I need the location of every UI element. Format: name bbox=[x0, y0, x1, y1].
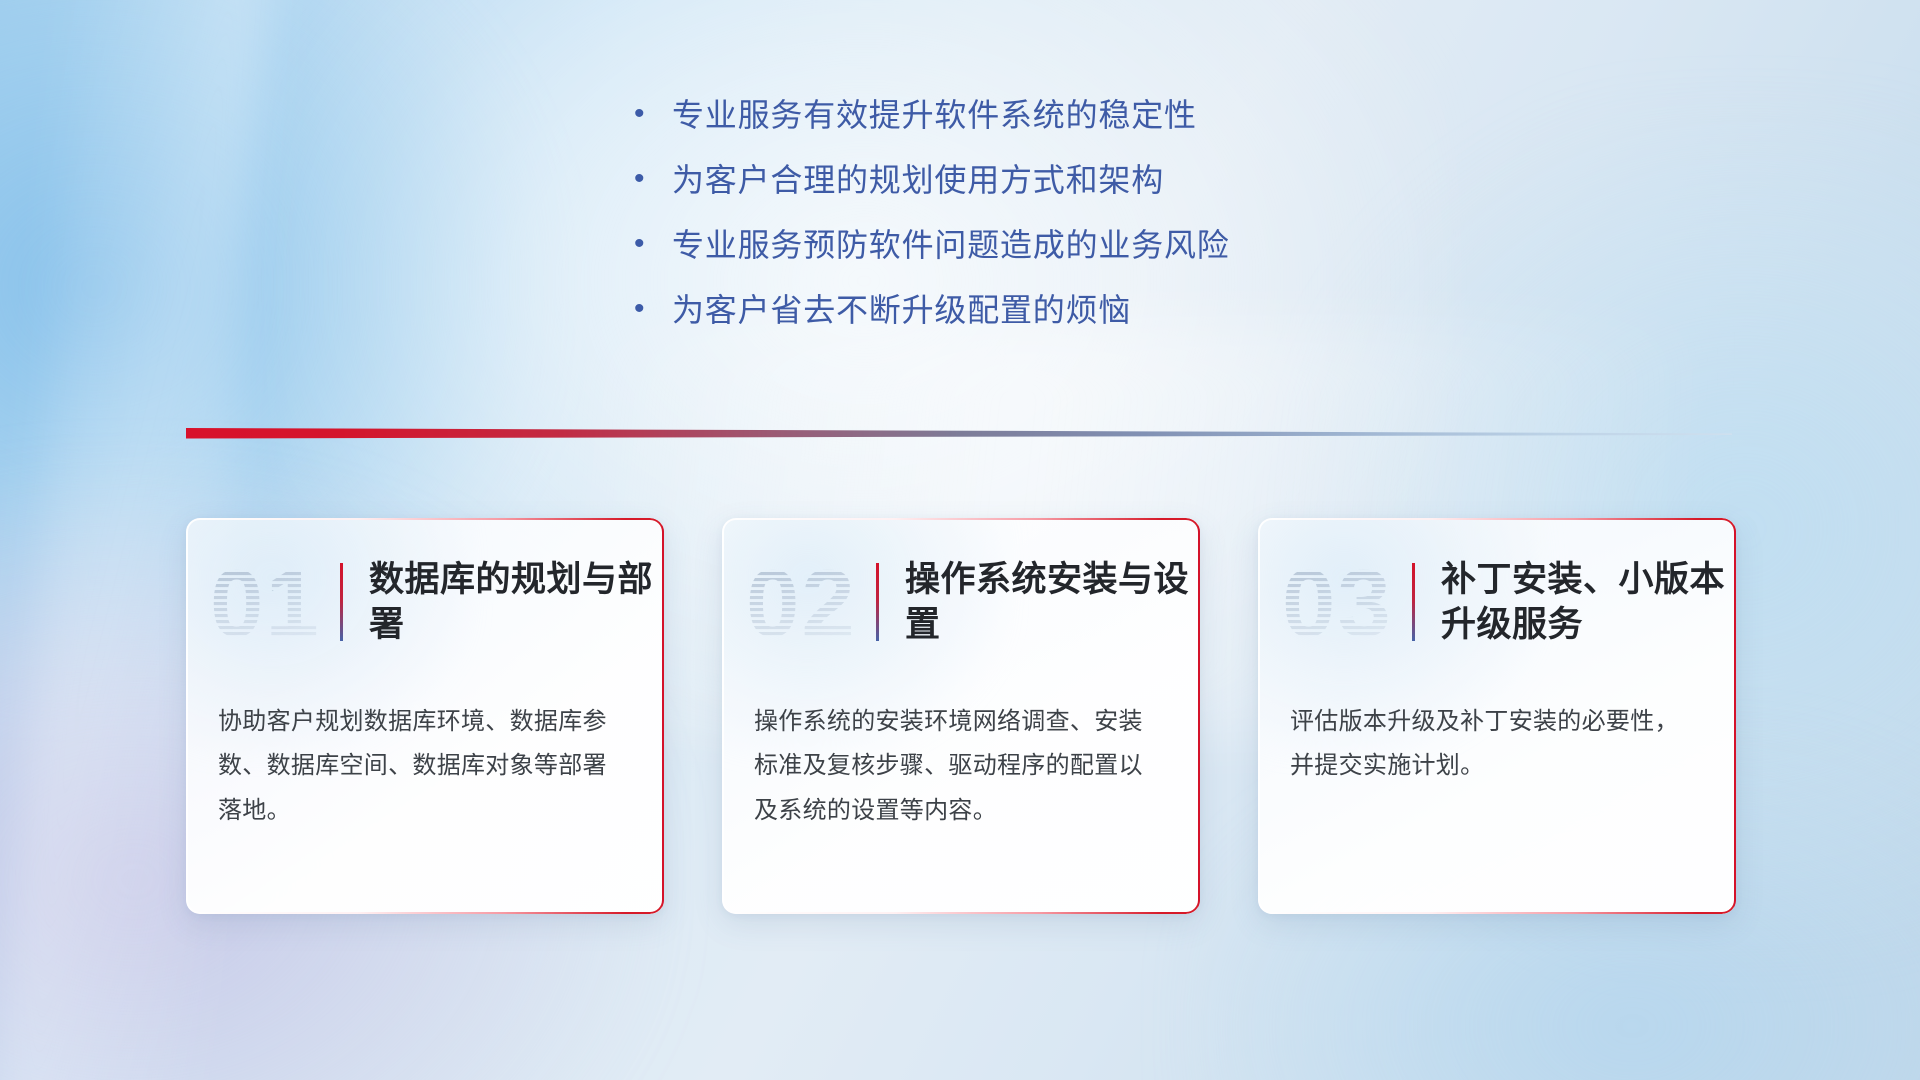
bullet-marker-icon: • bbox=[634, 164, 672, 194]
section-divider bbox=[186, 424, 1732, 444]
bullet-marker-icon: • bbox=[634, 294, 672, 324]
svg-text:03: 03 bbox=[1282, 550, 1393, 656]
card-title: 补丁安装、小版本升级服务 bbox=[1441, 557, 1736, 648]
card-header: 01 数据库的规划与部署 bbox=[186, 518, 664, 686]
card-number-watermark: 03 bbox=[1280, 548, 1402, 656]
card-description: 协助客户规划数据库环境、数据库参数、数据库空间、数据库对象等部署落地。 bbox=[186, 686, 664, 833]
svg-text:01: 01 bbox=[210, 550, 321, 656]
bullet-item: • 专业服务有效提升软件系统的稳定性 bbox=[610, 96, 1310, 135]
bullet-marker-icon: • bbox=[634, 99, 672, 129]
slide-canvas: • 专业服务有效提升软件系统的稳定性 • 为客户合理的规划使用方式和架构 • 专… bbox=[0, 0, 1920, 1080]
card-title: 操作系统安装与设置 bbox=[905, 557, 1200, 648]
card-accent-bar bbox=[340, 563, 343, 641]
bullet-item: • 为客户合理的规划使用方式和架构 bbox=[610, 161, 1310, 200]
service-card[interactable]: 01 数据库的规划与部署 协助客户规划数据库环境、数据库参数、数据库空间、数据库… bbox=[186, 518, 664, 914]
service-card-list: 01 数据库的规划与部署 协助客户规划数据库环境、数据库参数、数据库空间、数据库… bbox=[186, 518, 1736, 914]
striped-number-icon: 02 bbox=[744, 548, 866, 656]
bullet-item-label: 专业服务预防软件问题造成的业务风险 bbox=[672, 226, 1230, 265]
card-description: 评估版本升级及补丁安装的必要性，并提交实施计划。 bbox=[1258, 686, 1736, 789]
bullet-item-label: 专业服务有效提升软件系统的稳定性 bbox=[672, 96, 1197, 135]
card-header: 02 操作系统安装与设置 bbox=[722, 518, 1200, 686]
card-header: 03 补丁安装、小版本升级服务 bbox=[1258, 518, 1736, 686]
card-accent-bar bbox=[876, 563, 879, 641]
card-title: 数据库的规划与部署 bbox=[369, 557, 664, 648]
benefits-bullet-list: • 专业服务有效提升软件系统的稳定性 • 为客户合理的规划使用方式和架构 • 专… bbox=[0, 96, 1920, 330]
card-description: 操作系统的安装环境网络调查、安装标准及复核步骤、驱动程序的配置以及系统的设置等内… bbox=[722, 686, 1200, 833]
card-number-watermark: 02 bbox=[744, 548, 866, 656]
bullet-marker-icon: • bbox=[634, 229, 672, 259]
bullet-item: • 为客户省去不断升级配置的烦恼 bbox=[610, 291, 1310, 330]
svg-text:02: 02 bbox=[746, 550, 857, 656]
card-accent-bar bbox=[1412, 563, 1415, 641]
striped-number-icon: 03 bbox=[1280, 548, 1402, 656]
service-card[interactable]: 03 补丁安装、小版本升级服务 评估版本升级及补丁安装的必要性，并提交实施计划。 bbox=[1258, 518, 1736, 914]
card-number-watermark: 01 bbox=[208, 548, 330, 656]
bullet-item: • 专业服务预防软件问题造成的业务风险 bbox=[610, 226, 1310, 265]
bullet-item-label: 为客户省去不断升级配置的烦恼 bbox=[672, 291, 1131, 330]
service-card[interactable]: 02 操作系统安装与设置 操作系统的安装环境网络调查、安装标准及复核步骤、驱动程… bbox=[722, 518, 1200, 914]
divider-wedge-icon bbox=[186, 424, 1732, 444]
striped-number-icon: 01 bbox=[208, 548, 330, 656]
bullet-item-label: 为客户合理的规划使用方式和架构 bbox=[672, 161, 1164, 200]
